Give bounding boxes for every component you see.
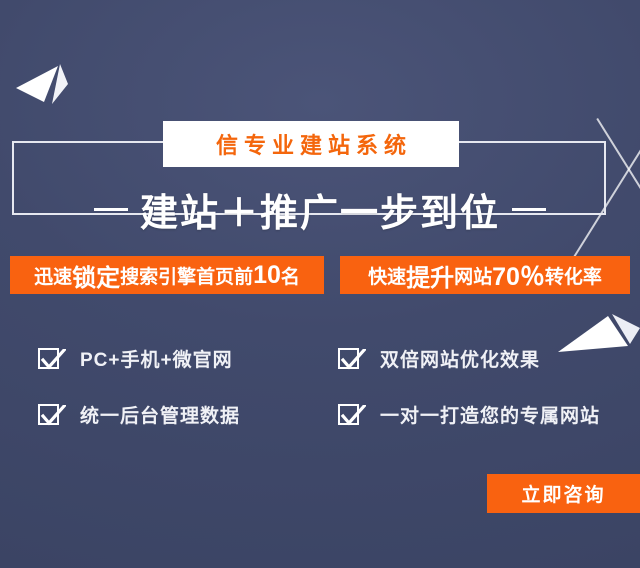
checkbox-checked-icon	[338, 346, 362, 370]
feature-label: 双倍网站优化效果	[380, 345, 540, 372]
strip-part: 名	[281, 262, 300, 289]
title-chip: 信专业建站系统	[163, 121, 459, 167]
promo-banner: 信专业建站系统 建站＋推广一步到位 迅速锁定搜索引擎首页前10名 快速提升网站7…	[0, 0, 640, 568]
checkbox-checked-icon	[38, 402, 62, 426]
feature-item: 一对一打造您的专属网站	[338, 386, 618, 442]
checkbox-checked-icon	[338, 402, 362, 426]
ranking-strip: 迅速锁定搜索引擎首页前10名	[10, 256, 324, 294]
strip-part: 10	[253, 261, 281, 290]
paper-plane-icon	[14, 58, 74, 110]
highlight-strips: 迅速锁定搜索引擎首页前10名 快速提升网站70％转化率	[10, 256, 630, 294]
consult-now-button[interactable]: 立即咨询	[487, 474, 640, 513]
feature-list: PC+手机+微官网双倍网站优化效果统一后台管理数据一对一打造您的专属网站	[38, 330, 618, 442]
strip-part: 锁定	[72, 258, 120, 293]
strip-part: 转化率	[545, 262, 602, 289]
headline-text: 建站＋推广一步到位	[140, 182, 500, 237]
strip-part: 迅速	[34, 262, 72, 289]
headline: 建站＋推广一步到位	[0, 182, 640, 237]
feature-item: PC+手机+微官网	[38, 330, 338, 386]
strip-part: 搜索引擎首页前	[120, 262, 253, 289]
checkbox-checked-icon	[38, 346, 62, 370]
headline-dash-left	[94, 208, 128, 211]
feature-label: PC+手机+微官网	[80, 345, 233, 372]
conversion-strip: 快速提升网站70％转化率	[340, 256, 630, 294]
feature-item: 统一后台管理数据	[38, 386, 338, 442]
strip-part: 网站	[454, 262, 492, 289]
feature-item: 双倍网站优化效果	[338, 330, 618, 386]
strip-part: 提升	[406, 258, 454, 293]
strip-part: 快速	[368, 262, 406, 289]
headline-dash-right	[512, 208, 546, 211]
title-chip-text: 信专业建站系统	[210, 128, 412, 160]
strip-part: 70％	[492, 257, 545, 293]
feature-label: 统一后台管理数据	[80, 401, 240, 428]
feature-label: 一对一打造您的专属网站	[380, 401, 600, 428]
